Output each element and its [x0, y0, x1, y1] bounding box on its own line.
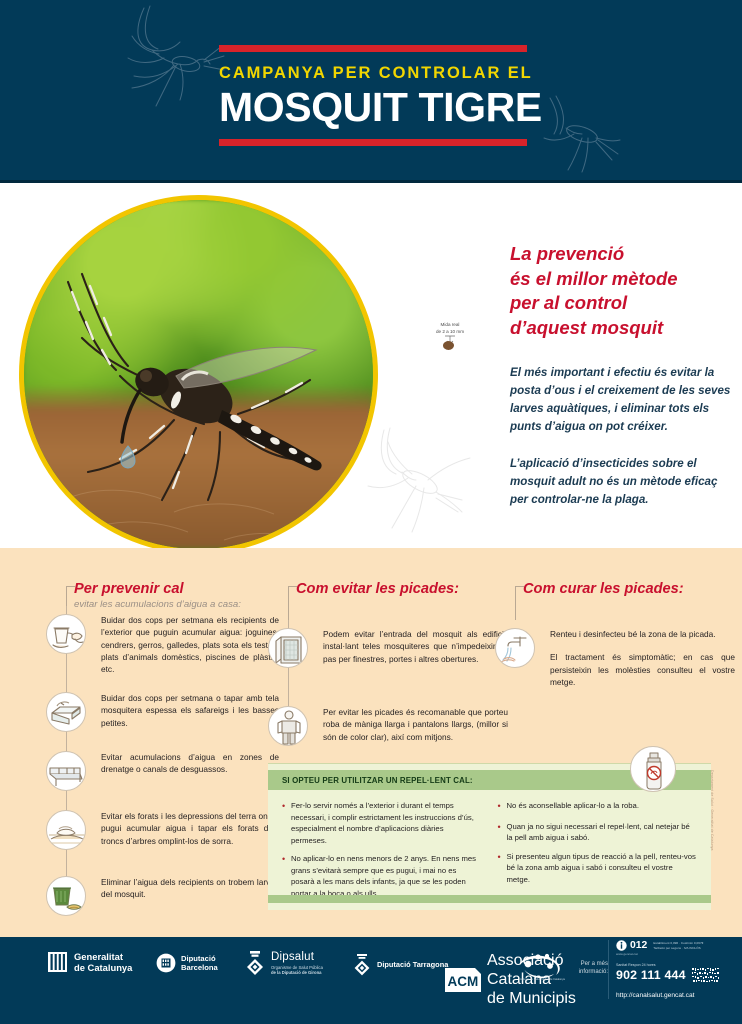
bullet-text: No és aconsellable aplicar-lo a la roba. [507, 800, 639, 814]
mosquito-lineart-midband-icon [358, 420, 478, 545]
diputacio-bcn-line2: Barcelona [181, 963, 218, 972]
bullet-text: No aplicar-lo en nens menors de 2 anys. … [291, 853, 482, 899]
diputacio-barcelona-seal-icon [156, 953, 176, 973]
poster-header: CAMPANYA PER CONTROLAR EL MOSQUIT TIGRE [0, 0, 742, 183]
vertical-credit: Departament de Salut · Generalitat de Ca… [710, 770, 714, 920]
actual-size-dot [443, 341, 454, 350]
bullet-dot: • [498, 800, 507, 814]
intro-paragraph-2: L’aplicació d’insecticides sobre el mosq… [510, 455, 734, 509]
column-title: Com evitar les picades: [296, 581, 511, 598]
tip-item: Per evitar les picades és recomanable qu… [268, 706, 508, 746]
tree-hole-sand-icon [46, 810, 86, 850]
column-title: Com curar les picades: [523, 581, 738, 598]
tip-item: Buidar dos cops per setmana els recipien… [46, 614, 279, 675]
mosquito-photo [19, 195, 378, 554]
tip-text: Buidar dos cops per setmana o tapar amb … [101, 692, 279, 732]
sink-basin-icon [46, 692, 86, 732]
bullet-dot: • [498, 851, 507, 886]
campaign-kicker: CAMPANYA PER CONTROLAR EL [219, 63, 529, 84]
mosquito-lineart-left-icon [104, 2, 234, 114]
intro-block: La prevencióés el millor mètodeper al co… [510, 242, 734, 509]
intro-paragraph-1: El més important i efectiu és evitar la … [510, 364, 734, 436]
bullet-dot: • [282, 800, 291, 846]
acm-mark-icon: ACM [444, 967, 482, 993]
repellent-right-column: • No és aconsellable aplicar-lo a la rob… [498, 800, 698, 906]
repellent-bullet: • Si presenteu algun tipus de reacció a … [498, 851, 698, 886]
dipsalut-line1: Dipsalut [271, 951, 323, 965]
mosquito-lineart-right-icon [538, 88, 638, 178]
more-info-label: Per a mésinformació: [568, 960, 608, 977]
tip-text: Per evitar les picades és recomanable qu… [323, 706, 508, 746]
column-title: Per prevenir cal [74, 581, 279, 598]
phone-012-note: Establiment 0,09€ · Cost/min 0,067€Tarif… [653, 941, 703, 950]
column-curar-picades: Com curar les picades: [523, 581, 738, 598]
bullet-dot: • [282, 853, 291, 899]
tip-item: Podem evitar l’entrada del mosquit als e… [268, 628, 508, 668]
contact-block: 012 Establiment 0,09€ · Cost/min 0,067€T… [608, 940, 736, 999]
phone-012-row: 012 Establiment 0,09€ · Cost/min 0,067€T… [616, 940, 736, 951]
repellent-bullet: • Fer-lo servir només a l’exterior i dur… [282, 800, 482, 846]
repellent-box: SI OPTEU PER UTILITZAR UN REPEL·LENT CAL… [268, 763, 711, 910]
tip-text: El tractament és simptomàtic; en cas que… [550, 651, 735, 688]
tip-item: Evitar acumulacions d’aigua en zones de … [46, 751, 279, 791]
column-evitar-picades: Com evitar les picades: [296, 581, 511, 598]
page-title: MOSQUIT TIGRE [219, 85, 529, 130]
intro-headline: La prevencióés el millor mètodeper al co… [510, 242, 734, 340]
qr-code-icon [691, 967, 721, 983]
diputacio-tarragona-logo: Diputació Tarragona [352, 953, 448, 977]
dipsalut-diamond-icon [244, 950, 266, 976]
repellent-bullet: • No aplicar-lo en nens menors de 2 anys… [282, 853, 482, 899]
repellent-left-column: • Fer-lo servir només a l’exterior i dur… [282, 800, 482, 906]
repellent-bullet: • No és aconsellable aplicar-lo a la rob… [498, 800, 698, 814]
tip-item: Eliminar l’aigua dels recipients on trob… [46, 876, 279, 916]
column-2-connector [288, 586, 297, 620]
repellent-heading-text: SI OPTEU PER UTILITZAR UN REPEL·LENT CAL… [282, 776, 473, 785]
tap-wash-icon [495, 628, 535, 668]
dipsalut-logo: Dipsalut Organisme de Salut Pública de l… [244, 950, 323, 976]
sanitat-respon-number: 902 111 444 [616, 968, 686, 982]
tip-text: Evitar els forats i les depressions del … [101, 810, 279, 850]
phone-012-number: 012 [630, 940, 647, 951]
agencia-salut-publica-logo: Agència de Salut Pública de Catalunya [516, 952, 574, 982]
bullet-text: Fer-lo servir només a l’exterior i duran… [291, 800, 482, 846]
tip-item: Evitar els forats i les depressions del … [46, 810, 279, 850]
diputacio-tarragona-label: Diputació Tarragona [377, 961, 448, 970]
window-screen-icon [268, 628, 308, 668]
bucket-larvae-icon [46, 876, 86, 916]
info-icon [616, 940, 627, 951]
long-clothing-icon [268, 706, 308, 746]
diputacio-tarragona-diamond-icon [352, 953, 372, 977]
title-block: CAMPANYA PER CONTROLAR EL MOSQUIT TIGRE [219, 45, 529, 146]
poster: CAMPANYA PER CONTROLAR EL MOSQUIT TIGRE [0, 0, 742, 1024]
tip-text: Evitar acumulacions d’aigua en zones de … [101, 751, 279, 791]
generalitat-line1: Generalitat [74, 951, 132, 962]
tip-text: Podem evitar l’entrada del mosquit als e… [323, 628, 508, 668]
agencia-salut-publica-swirl-icon: Agència de Salut Pública de Catalunya [516, 952, 574, 982]
repellent-spray-icon [630, 746, 676, 792]
title-rule-bottom [219, 139, 527, 146]
bullet-text: Si presenteu algun tipus de reacció a la… [507, 851, 698, 886]
generalitat-logo: Generalitat de Catalunya [47, 951, 132, 974]
title-rule-top [219, 45, 527, 52]
acm-line3: de Municipis [487, 989, 576, 1008]
repellent-box-footer-band [268, 895, 711, 903]
tip-item: Renteu i desinfecteu bé la zona de la pi… [495, 628, 735, 688]
dipsalut-line3: de la Diputació de Girona [271, 970, 323, 975]
phone-012-url: www.gencat.cat [616, 952, 736, 956]
generalitat-line2: de Catalunya [74, 962, 132, 973]
svg-text:ACM: ACM [448, 974, 479, 989]
column-1-connector [66, 586, 75, 606]
diputacio-barcelona-logo: Diputació Barcelona [156, 953, 218, 973]
agencia-label: Agència de Salut Pública de Catalunya [520, 977, 565, 981]
drain-gutter-icon [46, 751, 86, 791]
website-url[interactable]: http://canalsalut.gencat.cat [616, 992, 736, 999]
column-subtitle: evitar les acumulacions d’aigua a casa: [74, 599, 279, 611]
bullet-text: Quan ja no sigui necessari el repel·lent… [507, 821, 698, 844]
diputacio-bcn-line1: Diputació [181, 954, 218, 963]
watering-pot-icon [46, 614, 86, 654]
generalitat-shield-icon [47, 951, 68, 973]
tip-text: Renteu i desinfecteu bé la zona de la pi… [550, 628, 735, 640]
tip-text: Buidar dos cops per setmana els recipien… [101, 614, 279, 675]
column-3-connector [515, 586, 524, 620]
tip-item: Buidar dos cops per setmana o tapar amb … [46, 692, 279, 732]
column-prevenir: Per prevenir cal evitar les acumulacions… [74, 581, 279, 610]
repellent-bullet: • Quan ja no sigui necessari el repel·le… [498, 821, 698, 844]
repellent-bullet-columns: • Fer-lo servir només a l’exterior i dur… [282, 800, 697, 906]
tip-text: Eliminar l’aigua dels recipients on trob… [101, 876, 279, 916]
sanitat-respon-row: 902 111 444 [616, 967, 736, 983]
bullet-dot: • [498, 821, 507, 844]
